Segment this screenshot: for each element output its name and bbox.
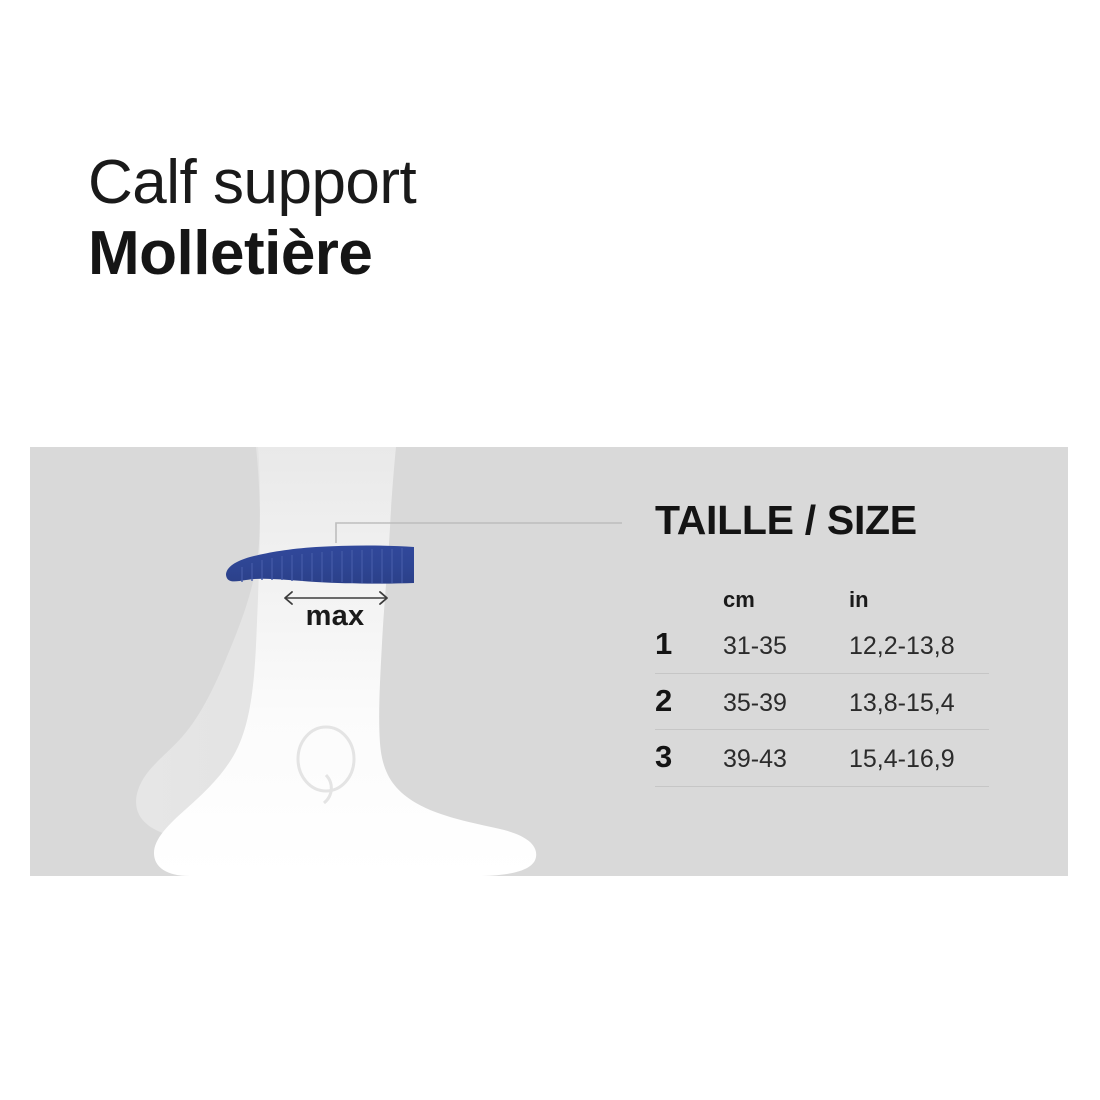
- cell-in-range: 15,4-16,9: [849, 730, 989, 787]
- size-chart-page: Calf support Molletière: [0, 0, 1100, 1100]
- size-table: cm in 1 31-35 12,2-13,8 2 35-39 13,8-15,…: [655, 589, 989, 787]
- cell-cm-range: 31-35: [723, 617, 849, 673]
- table-row: 3 39-43 15,4-16,9: [655, 730, 989, 787]
- cell-size-number: 2: [655, 673, 723, 730]
- page-title: Calf support Molletière: [88, 150, 788, 288]
- cell-in-range: 13,8-15,4: [849, 673, 989, 730]
- table-row: 2 35-39 13,8-15,4: [655, 673, 989, 730]
- column-header-in: in: [849, 589, 989, 617]
- front-leg-and-foot: [154, 447, 536, 876]
- calf-support-illustration: [30, 447, 670, 876]
- cell-cm-range: 35-39: [723, 673, 849, 730]
- column-header-cm: cm: [723, 589, 849, 617]
- size-chart-block: TAILLE / SIZE cm in 1 31-35 12: [655, 500, 1015, 787]
- title-english: Calf support: [88, 150, 788, 217]
- title-french: Molletière: [88, 221, 788, 288]
- size-chart-heading: TAILLE / SIZE: [655, 500, 1015, 541]
- column-header-size: [655, 589, 723, 617]
- table-row: 1 31-35 12,2-13,8: [655, 617, 989, 673]
- calf-support-band: [226, 546, 414, 584]
- chart-panel: TAILLE / SIZE cm in 1 31-35 12: [30, 447, 1068, 876]
- cell-size-number: 3: [655, 730, 723, 787]
- table-header-row: cm in: [655, 589, 989, 617]
- cell-cm-range: 39-43: [723, 730, 849, 787]
- cell-in-range: 12,2-13,8: [849, 617, 989, 673]
- max-measurement-label: max: [270, 600, 400, 633]
- cell-size-number: 1: [655, 617, 723, 673]
